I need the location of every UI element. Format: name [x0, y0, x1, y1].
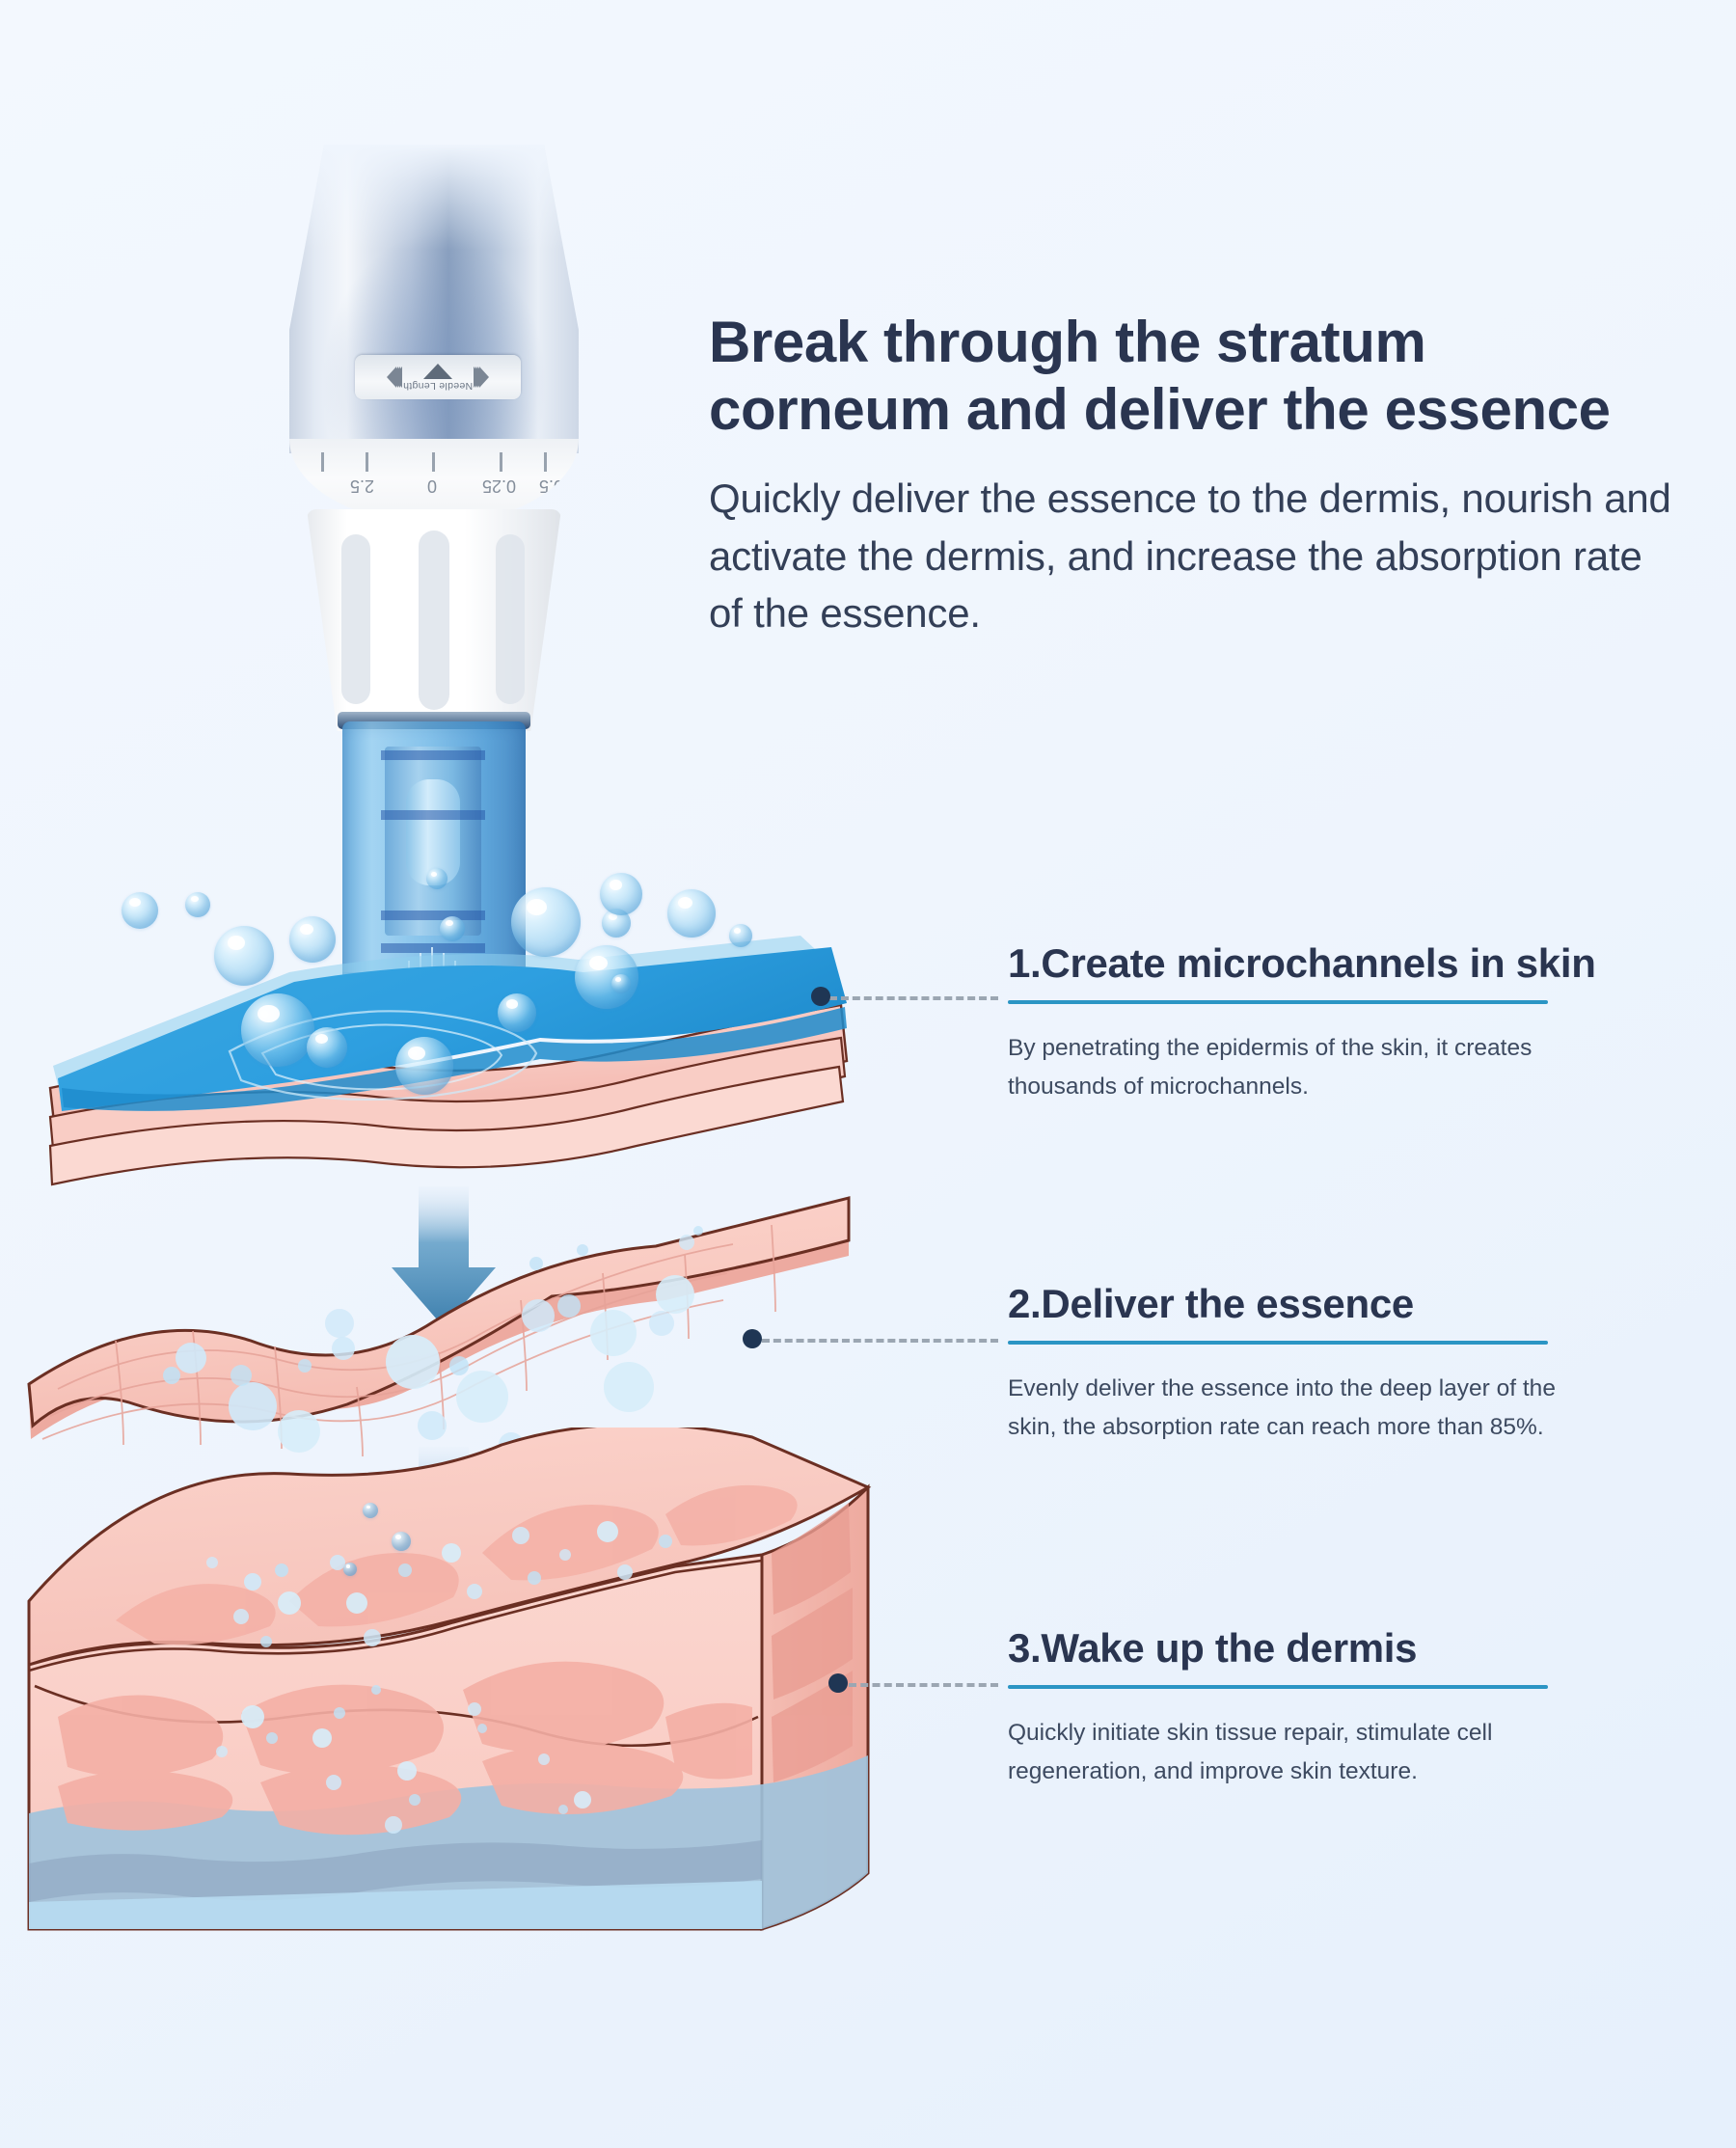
- step-1-rule: [1008, 1000, 1548, 1004]
- step-2-title: 2.Deliver the essence: [1008, 1281, 1625, 1327]
- headline-block: Break through the stratum corneum and de…: [709, 309, 1683, 642]
- bubble: [729, 924, 752, 947]
- page-subtitle: Quickly deliver the essence to the dermi…: [709, 470, 1683, 642]
- step-2: 2.Deliver the essence Evenly deliver the…: [1008, 1281, 1625, 1446]
- bubble: [241, 993, 314, 1067]
- dial-value: 2.5: [350, 476, 374, 496]
- step-2-description: Evenly deliver the essence into the deep…: [1008, 1370, 1596, 1446]
- step-2-rule: [1008, 1341, 1548, 1345]
- bubble: [600, 873, 642, 915]
- infographic-page: Needle Length 2.5 0 0.25: [0, 0, 1736, 2148]
- dial-value: 0.25: [482, 476, 516, 496]
- cartridge-band: [381, 750, 485, 760]
- grip-rib: [496, 534, 525, 704]
- bubble: [185, 892, 210, 917]
- pointer-triangle-icon: [423, 364, 452, 379]
- chevron-left-icon: [474, 367, 483, 388]
- chevrons-right: [391, 367, 398, 388]
- bubble: [392, 1532, 411, 1551]
- leader-dot-1: [811, 987, 830, 1006]
- bubble: [343, 1563, 357, 1576]
- dial-tick: [432, 452, 435, 472]
- bubble: [575, 945, 638, 1009]
- bubble: [611, 974, 631, 993]
- bubble: [307, 1027, 347, 1068]
- leader-dot-2: [743, 1329, 762, 1348]
- chevron-right-icon: [387, 367, 396, 388]
- bubble: [122, 892, 158, 929]
- bubble: [363, 1503, 378, 1518]
- leader-dot-3: [828, 1673, 848, 1693]
- bubble: [395, 1037, 453, 1095]
- step-3-description: Quickly initiate skin tissue repair, sti…: [1008, 1714, 1596, 1790]
- bubble: [498, 993, 536, 1032]
- bubble: [440, 916, 465, 941]
- grip-rib: [419, 530, 449, 710]
- grip-rib: [341, 534, 370, 704]
- device-body-shading: [289, 145, 579, 453]
- needle-length-label: Needle Length: [403, 381, 473, 392]
- page-title: Break through the stratum corneum and de…: [709, 309, 1683, 443]
- dial-tick: [544, 452, 547, 472]
- step-3-rule: [1008, 1685, 1548, 1689]
- dial-tick: [321, 452, 324, 472]
- leader-line-1: [829, 996, 998, 1000]
- step-1: 1.Create microchannels in skin By penetr…: [1008, 940, 1625, 1105]
- dermis-block-graphic: [0, 1427, 984, 2103]
- bubble: [289, 916, 336, 963]
- dermis-top-face: [29, 1198, 849, 1426]
- cartridge-band: [381, 810, 485, 820]
- chevrons-left: [477, 367, 485, 388]
- tissue-pattern-side: [772, 1503, 853, 1782]
- leader-line-2: [762, 1339, 998, 1343]
- bubble: [214, 926, 274, 986]
- step-1-description: By penetrating the epidermis of the skin…: [1008, 1029, 1596, 1105]
- dial-value: 0.5: [539, 476, 563, 496]
- leader-line-3: [849, 1683, 998, 1687]
- step-1-title: 1.Create microchannels in skin: [1008, 940, 1625, 987]
- dial-tick: [500, 452, 502, 472]
- sticker-center: Needle Length: [403, 364, 473, 392]
- dial-value: 0: [427, 476, 437, 496]
- needle-length-sticker: Needle Length: [355, 355, 521, 399]
- bubble: [667, 889, 716, 938]
- bubble: [426, 868, 448, 889]
- step-3-title: 3.Wake up the dermis: [1008, 1625, 1625, 1672]
- bubble: [511, 887, 581, 957]
- dial-tick: [366, 452, 368, 472]
- device-grip: [307, 509, 561, 731]
- step-3: 3.Wake up the dermis Quickly initiate sk…: [1008, 1625, 1625, 1790]
